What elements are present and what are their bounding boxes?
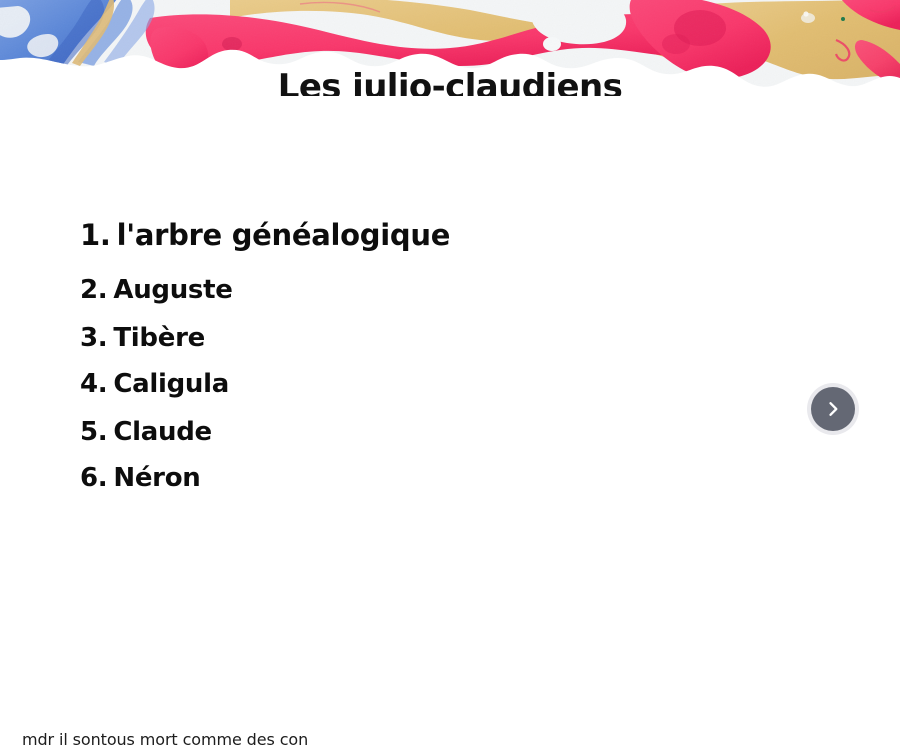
list-item-label: Auguste xyxy=(113,275,232,305)
list-item-number: 4. xyxy=(80,369,107,399)
list-item-number: 5. xyxy=(80,417,107,447)
slide-content: 1.l'arbre généalogique 2.Auguste 3.Tibèr… xyxy=(0,96,900,750)
list-item[interactable]: 6.Néron xyxy=(80,463,780,494)
next-slide-button[interactable] xyxy=(807,383,859,435)
list-item[interactable]: 5.Claude xyxy=(80,417,780,448)
list-item[interactable]: 4.Caligula xyxy=(80,369,780,400)
list-item-label: l'arbre généalogique xyxy=(117,218,450,252)
next-button-circle xyxy=(811,387,855,431)
table-of-contents: 1.l'arbre généalogique 2.Auguste 3.Tibèr… xyxy=(80,218,780,509)
footer-note: mdr il sontous mort comme des con xyxy=(22,729,308,751)
list-item-number: 3. xyxy=(80,323,107,353)
list-item-label: Claude xyxy=(113,417,212,447)
list-item-label: Tibère xyxy=(113,323,205,353)
list-item[interactable]: 3.Tibère xyxy=(80,323,780,354)
list-item-number: 1. xyxy=(80,218,111,252)
list-item[interactable]: 1.l'arbre généalogique xyxy=(80,218,780,252)
list-item-label: Néron xyxy=(113,463,200,493)
chevron-right-icon xyxy=(823,399,843,419)
list-item-number: 2. xyxy=(80,275,107,305)
page-title: Les julio-claudiens xyxy=(0,67,900,96)
list-item-number: 6. xyxy=(80,463,107,493)
list-item[interactable]: 2.Auguste xyxy=(80,275,780,306)
list-item-label: Caligula xyxy=(113,369,229,399)
header-banner: Les julio-claudiens xyxy=(0,0,900,96)
